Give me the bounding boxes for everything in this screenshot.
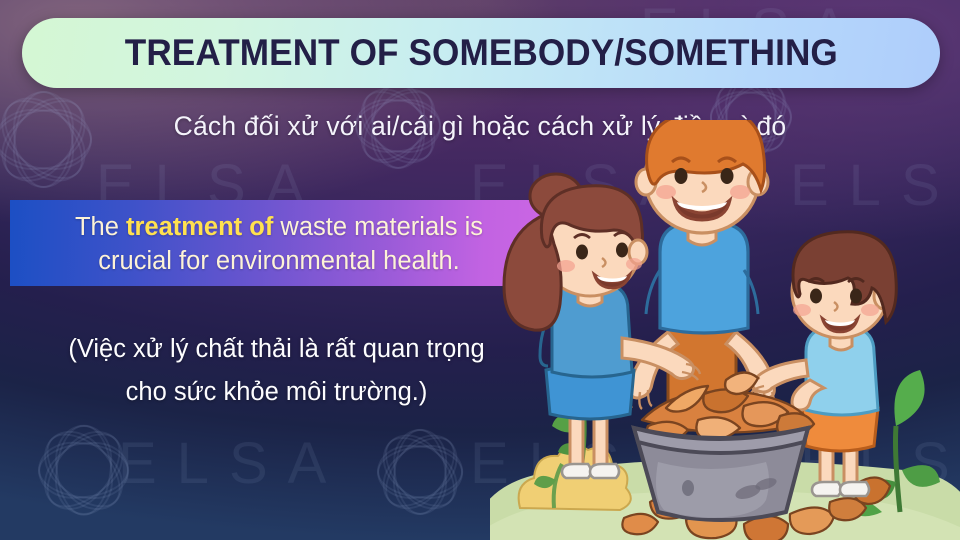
- illustration-three-children-sorting-waste: [490, 120, 960, 540]
- elsa-flower-logo-icon: [352, 404, 484, 536]
- example-line-1: The treatment of waste materials is: [75, 210, 483, 244]
- example-line-2: crucial for environmental health.: [98, 244, 459, 278]
- elsa-watermark-text: ELSA: [118, 430, 346, 497]
- slide-root: ELSA ELSA ELSA ELSA ELSA ELSA ELSA TREAT…: [0, 0, 960, 540]
- grey-waste-bin: [634, 428, 808, 520]
- page-title-banner: TREATMENT OF SOMEBODY/SOMETHING: [22, 18, 940, 88]
- example-line-1-post: waste materials is: [273, 213, 483, 241]
- translation-block: (Việc xử lý chất thải là rất quan trọng …: [4, 328, 549, 414]
- example-sentence-box: The treatment of waste materials is cruc…: [10, 200, 548, 286]
- translation-line-2: cho sức khỏe môi trường.): [4, 371, 549, 414]
- elsa-flower-logo-icon: [12, 398, 152, 538]
- page-title: TREATMENT OF SOMEBODY/SOMETHING: [124, 32, 837, 74]
- translation-line-1: (Việc xử lý chất thải là rất quan trọng: [4, 328, 549, 371]
- example-highlight-phrase: treatment of: [126, 213, 273, 241]
- example-line-1-pre: The: [75, 213, 126, 241]
